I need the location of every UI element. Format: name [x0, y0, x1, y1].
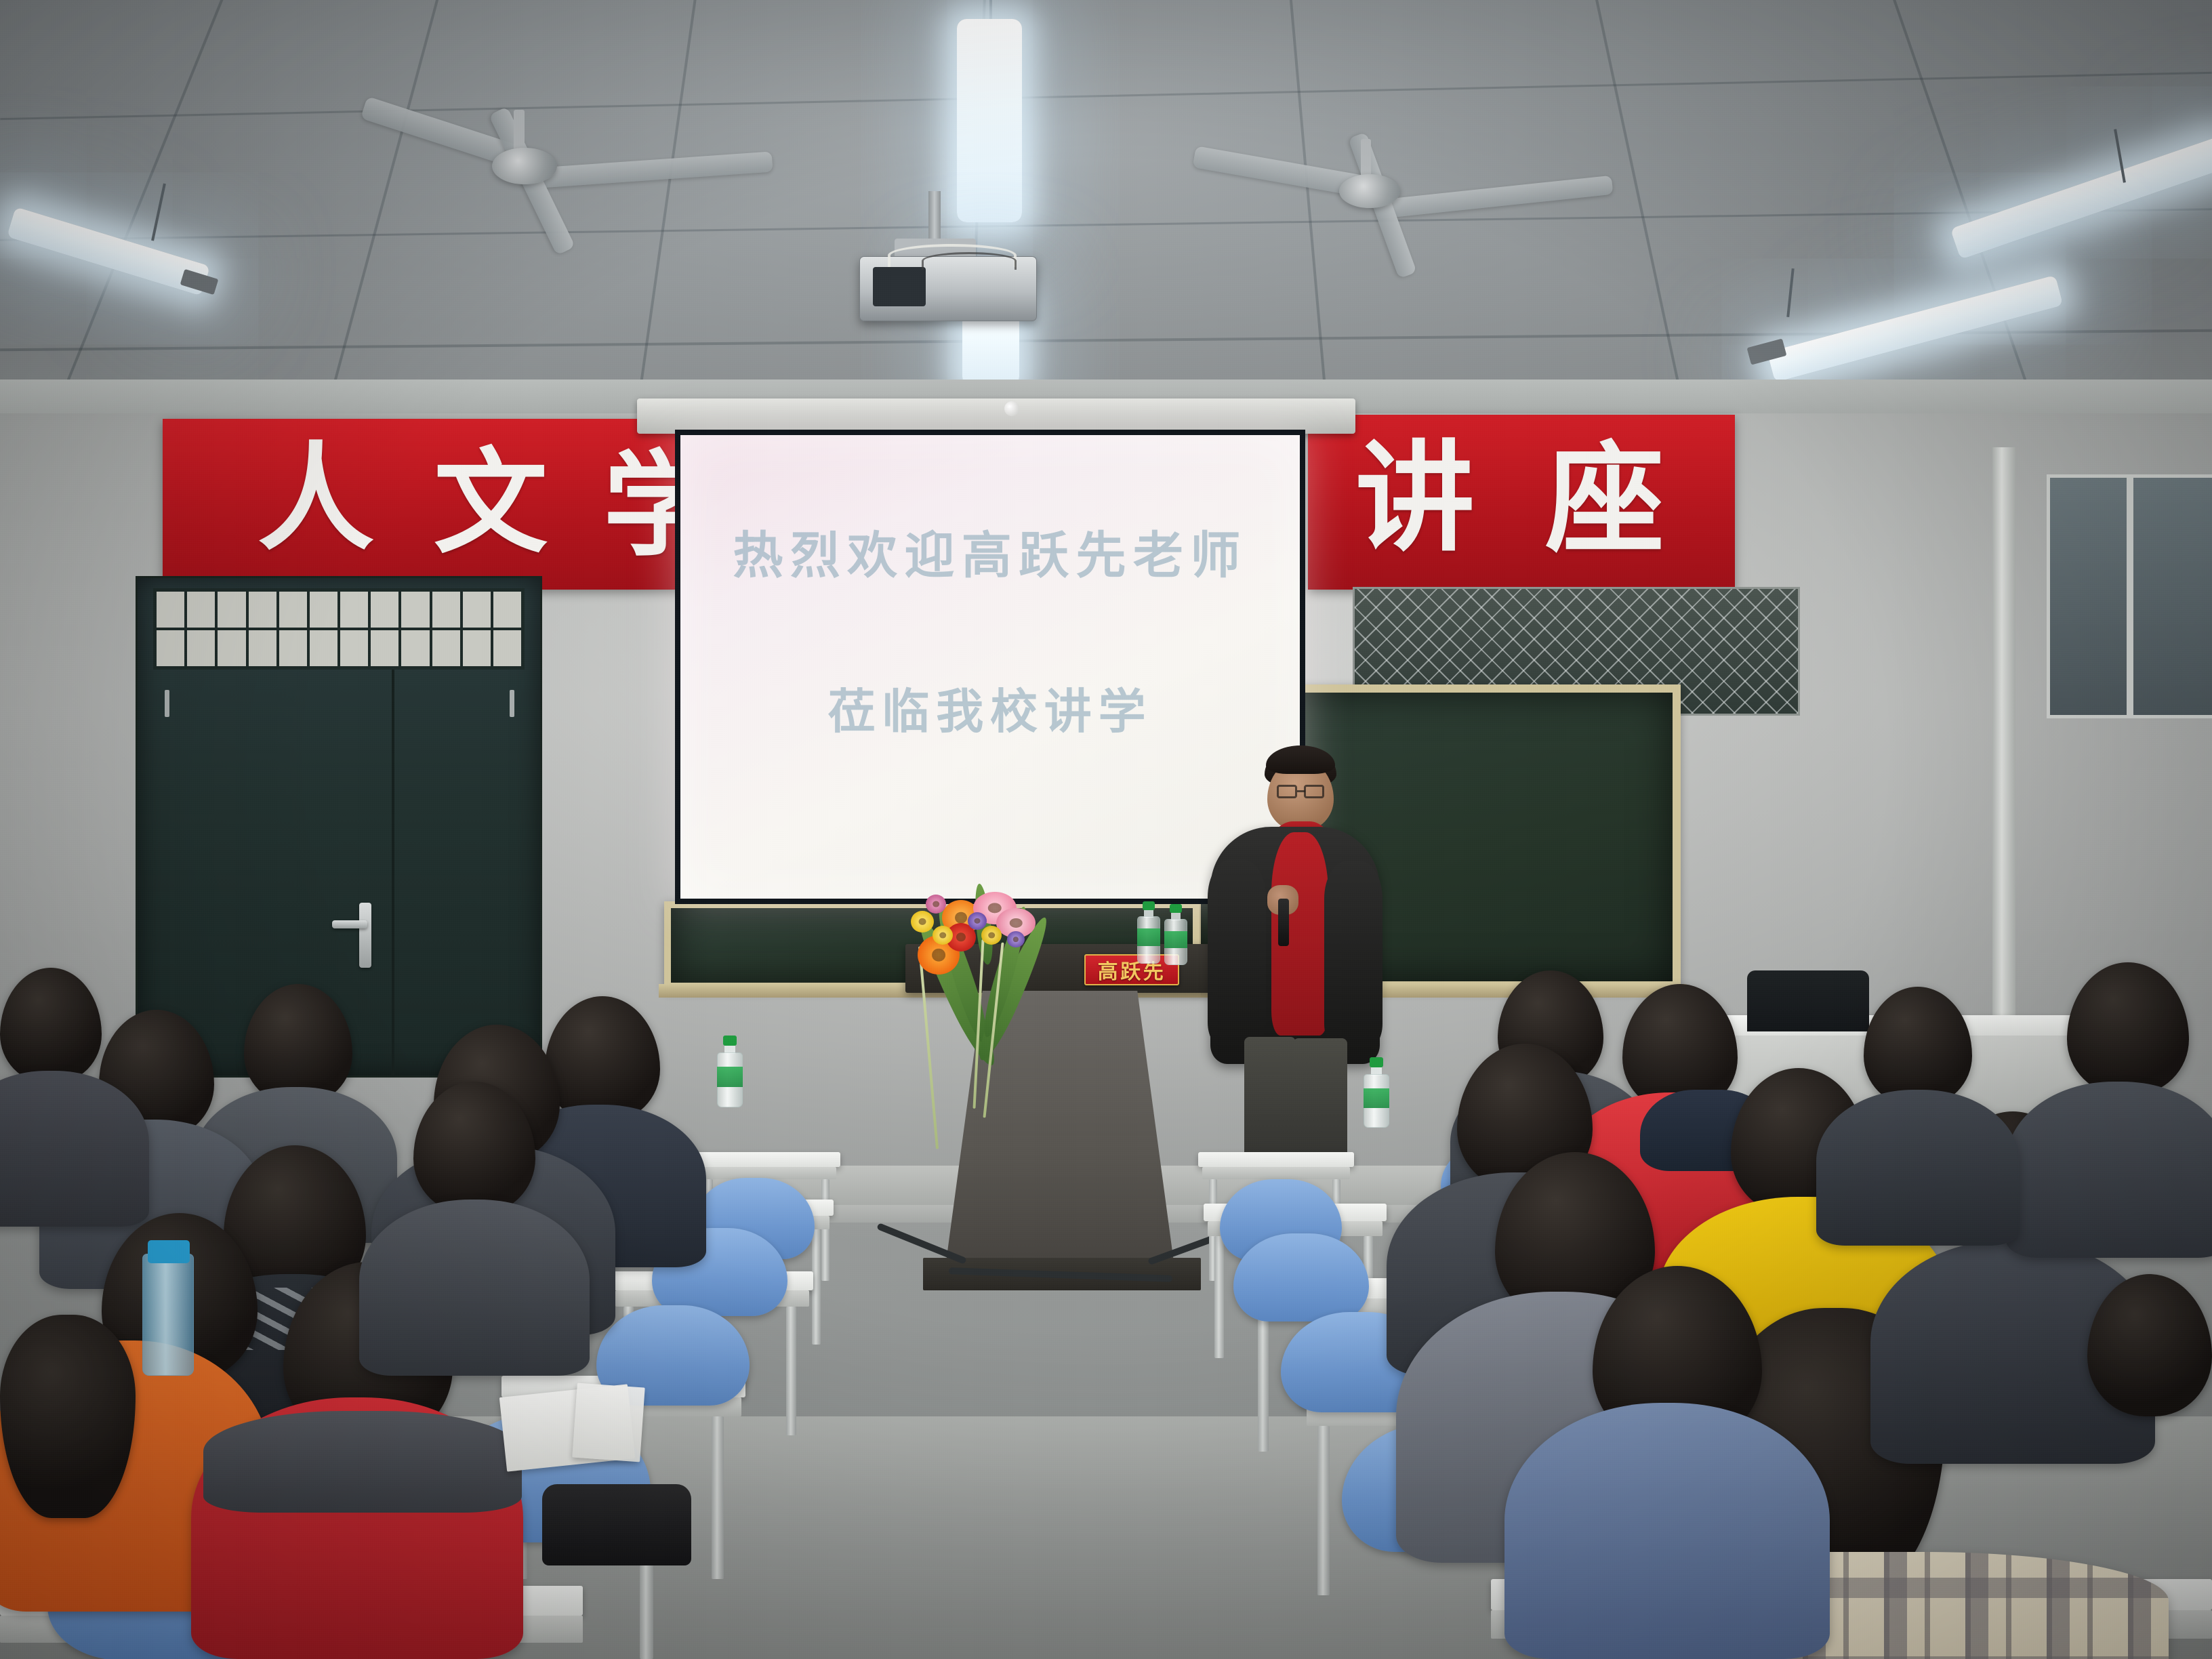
speaker-glasses-right: [1304, 785, 1324, 798]
flower-bud-magenta: [926, 895, 946, 914]
desk-left-r1-edge: [695, 1167, 836, 1179]
speaker-hair-crown: [1266, 745, 1335, 774]
banner-char-4: 讲: [1355, 439, 1475, 558]
water-bottle-podium-1: [1137, 901, 1160, 964]
classroom-photo: 人 文 学 讲 座 热烈欢迎高跃先老师 莅临我校讲学 高跃先: [0, 0, 2212, 1659]
lecture-speaker: [1179, 732, 1382, 1152]
door-handle[interactable]: [359, 903, 371, 968]
chair-right-2[interactable]: [1233, 1233, 1369, 1322]
door-hinge-left: [165, 690, 169, 717]
desk-right-r3-leg: [1258, 1316, 1269, 1452]
ceiling-fan-right: [1206, 125, 1626, 274]
flower-chrysanth-yellow-2: [933, 926, 953, 945]
audience-grey-scarf: [203, 1411, 522, 1513]
door-transom-window: [153, 588, 525, 670]
projector-cable-2: [922, 252, 1017, 270]
rear-chair-back[interactable]: [1747, 970, 1869, 1031]
open-notebook-page-right: [572, 1383, 644, 1462]
banner-char-2: 文: [434, 446, 548, 560]
flower-statice-purple: [968, 912, 987, 930]
blue-sports-bottle-cap: [148, 1240, 190, 1263]
speaker-trousers-right: [1293, 1038, 1347, 1166]
desk-right-r2-leg: [1214, 1236, 1224, 1358]
flower-chrysanth-yellow-1: [911, 911, 934, 933]
speaker-trousers: [1244, 1037, 1296, 1166]
projection-screen-case[interactable]: [637, 398, 1355, 434]
microphone: [1278, 899, 1289, 946]
door-center-seam: [392, 670, 394, 1076]
podium-flower-arrangement: [901, 888, 1105, 1172]
desk-right-r1[interactable]: [1198, 1152, 1354, 1167]
flower-chrysanth-yellow-3: [981, 926, 1002, 945]
ceiling-fan-left: [366, 95, 800, 251]
audience-body-l10: [359, 1200, 590, 1376]
rear-window-mullion: [2127, 474, 2133, 718]
water-bottle-desk-left: [717, 1036, 743, 1107]
desk-left-r4-leg2: [712, 1416, 724, 1579]
banner-char-1: 人: [258, 441, 374, 557]
black-bag-on-desk: [542, 1484, 691, 1565]
audience-body-r8: [2006, 1082, 2212, 1258]
desk-right-r4-leg: [1317, 1426, 1330, 1595]
speaker-arm-left: [1208, 859, 1266, 1049]
desk-left-r3-leg2: [786, 1307, 796, 1435]
speaker-glasses-bridge: [1297, 790, 1305, 792]
flower-statice-purple-2: [1007, 931, 1025, 947]
desk-left-r1[interactable]: [691, 1152, 840, 1167]
ceiling: [0, 0, 2212, 434]
water-bottle-desk-center-right: [1364, 1057, 1389, 1128]
speaker-glasses-left: [1277, 785, 1297, 798]
audience-body-r10-blue: [1504, 1403, 1830, 1659]
audience-head-l9-long-hair: [0, 1315, 136, 1518]
blue-sports-bottle: [142, 1254, 194, 1376]
door-hinge-right: [510, 690, 514, 717]
wall-pipe: [1992, 447, 2015, 1084]
projector-lens: [873, 267, 926, 306]
audience-body-r9: [1816, 1090, 2020, 1246]
banner-char-5: 座: [1545, 441, 1664, 560]
desk-right-r1-edge: [1202, 1167, 1350, 1179]
speaker-arm-right: [1324, 861, 1382, 1050]
desk-left-r1-leg2: [821, 1179, 829, 1281]
slide-line-1: 热烈欢迎高跃先老师: [680, 515, 1300, 588]
projection-screen-pull-knob[interactable]: [1004, 401, 1019, 416]
door-handle-arm[interactable]: [332, 920, 367, 928]
fluorescent-tube-center-top: [957, 19, 1022, 222]
